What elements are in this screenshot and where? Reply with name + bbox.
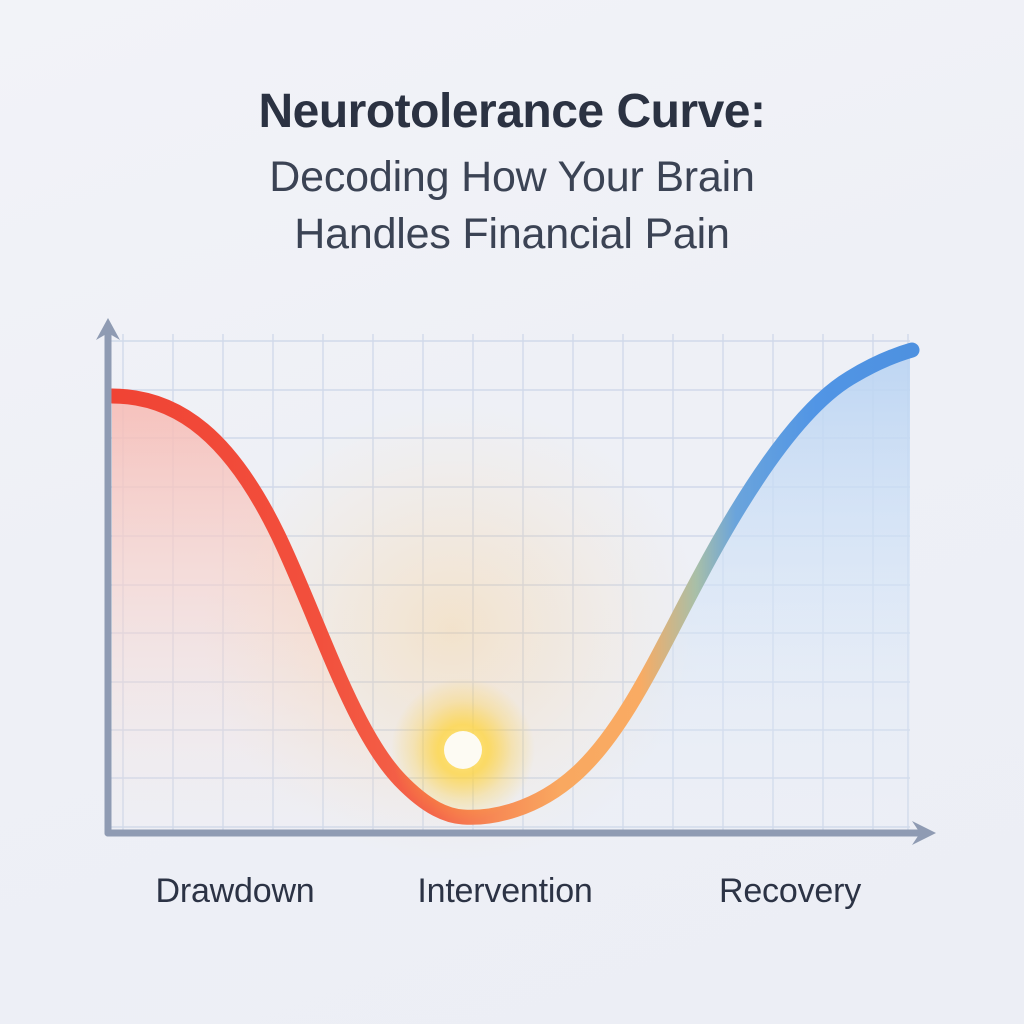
x-axis-label-intervention: Intervention — [417, 872, 592, 911]
poster-canvas: Neurotolerance Curve: Decoding How Your … — [0, 0, 1024, 1024]
x-axis-label-drawdown: Drawdown — [155, 872, 314, 911]
page-subtitle-line-1: Decoding How Your Brain — [0, 149, 1024, 207]
marker-dot — [444, 731, 482, 769]
page-subtitle-line-2: Handles Financial Pain — [0, 206, 1024, 264]
page-subtitle: Decoding How Your Brain Handles Financia… — [0, 149, 1024, 264]
inflection-point-marker[interactable] — [391, 678, 535, 822]
neurotolerance-curve-chart — [0, 300, 1024, 860]
x-axis-label-row: Drawdown Intervention Recovery — [0, 872, 1024, 932]
chart-container — [0, 300, 1024, 860]
page-title: Neurotolerance Curve: — [0, 84, 1024, 141]
x-axis-label-recovery: Recovery — [719, 872, 861, 911]
title-block: Neurotolerance Curve: Decoding How Your … — [0, 84, 1024, 264]
